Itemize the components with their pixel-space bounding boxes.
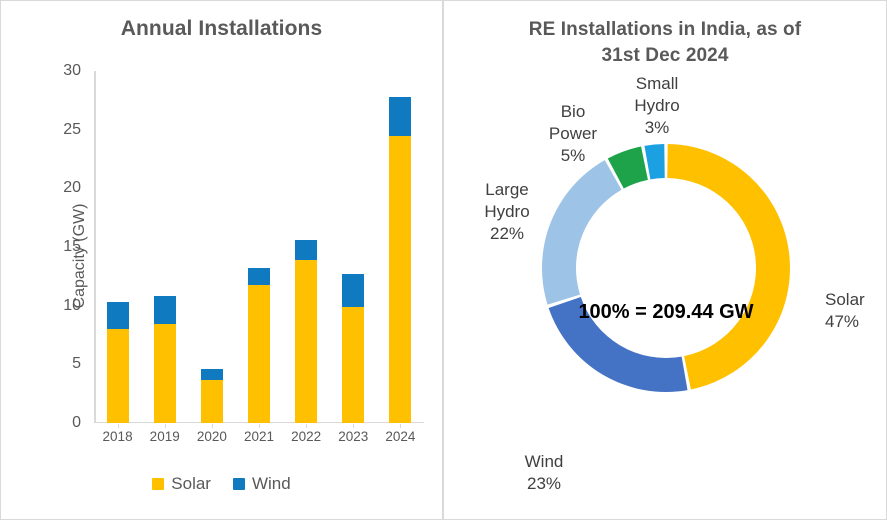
bar-segment-solar-2018[interactable] — [107, 329, 129, 423]
donut-label-small-hydro: Small Hydro 3% — [612, 73, 702, 139]
bar-segment-wind-2022[interactable] — [295, 240, 317, 260]
donut-slice-small-hydro[interactable] — [644, 144, 664, 179]
bar-group-2023[interactable] — [342, 274, 364, 423]
bar-segment-solar-2020[interactable] — [201, 380, 223, 423]
donut-label-wind-name: Wind — [525, 452, 564, 471]
bar-segment-wind-2023[interactable] — [342, 274, 364, 307]
y-axis-tick-30: 30 — [63, 62, 81, 80]
bar-segment-wind-2021[interactable] — [248, 268, 270, 284]
x-axis-tick-label-2021: 2021 — [244, 429, 274, 444]
bar-segment-solar-2024[interactable] — [389, 136, 411, 423]
x-axis-tick-mark-2024 — [400, 424, 401, 428]
bar-group-2022[interactable] — [295, 240, 317, 423]
donut-label-solar: Solar 47% — [825, 289, 865, 333]
donut-label-bio-power-pct: 5% — [528, 145, 618, 167]
donut-label-small-hydro-line1: Small — [636, 74, 679, 93]
bar-group-2019[interactable] — [154, 296, 176, 423]
legend-label-solar: Solar — [171, 474, 211, 494]
wind-legend-swatch — [233, 478, 245, 490]
bar-group-2018[interactable] — [107, 302, 129, 423]
annual-installations-chart-panel: Annual Installations 051015202530 Capaci… — [0, 0, 443, 520]
y-axis-tick-0: 0 — [72, 414, 81, 432]
x-axis-tick-label-2024: 2024 — [385, 429, 415, 444]
bar-chart-title: Annual Installations — [1, 17, 442, 41]
legend-label-wind: Wind — [252, 474, 291, 494]
donut-label-small-hydro-line2: Hydro — [634, 96, 679, 115]
bar-group-2024[interactable] — [389, 97, 411, 423]
bar-group-2020[interactable] — [201, 369, 223, 423]
y-axis-title: Capacity (GW) — [71, 171, 89, 341]
donut-chart-area: 100% = 209.44 GW Solar 47% Wind 23% Larg… — [444, 1, 887, 521]
re-installations-donut-panel: RE Installations in India, as of 31st De… — [443, 0, 887, 520]
bar-segment-wind-2020[interactable] — [201, 369, 223, 380]
donut-label-large-hydro-pct: 22% — [447, 223, 567, 245]
donut-svg — [539, 141, 793, 395]
y-axis-tick-5: 5 — [72, 355, 81, 373]
x-axis-tick-mark-2021 — [259, 424, 260, 428]
donut-label-large-hydro-line1: Large — [485, 180, 528, 199]
solar-legend-swatch — [152, 478, 164, 490]
x-axis-tick-mark-2020 — [212, 424, 213, 428]
x-axis-tick-label-2022: 2022 — [291, 429, 321, 444]
bar-chart-legend: SolarWind — [1, 474, 442, 494]
legend-item-solar[interactable]: Solar — [152, 474, 211, 494]
bars-layer — [94, 71, 424, 423]
donut-label-solar-name: Solar — [825, 290, 865, 309]
x-axis-tick-label-2023: 2023 — [338, 429, 368, 444]
donut-label-bio-power-line2: Power — [549, 124, 597, 143]
x-axis-tick-labels: 2018201920202021202220232024 — [94, 429, 424, 451]
y-axis-tick-25: 25 — [63, 121, 81, 139]
donut-label-bio-power-line1: Bio — [561, 102, 586, 121]
donut-label-solar-pct: 47% — [825, 311, 865, 333]
dashboard-root: Annual Installations 051015202530 Capaci… — [0, 0, 887, 520]
bar-plot-area — [94, 71, 424, 423]
x-axis-tick-mark-2018 — [118, 424, 119, 428]
donut-label-wind: Wind 23% — [489, 451, 599, 495]
bar-segment-wind-2019[interactable] — [154, 296, 176, 324]
x-axis-tick-label-2020: 2020 — [197, 429, 227, 444]
donut-label-large-hydro: Large Hydro 22% — [447, 179, 567, 245]
bar-segment-wind-2018[interactable] — [107, 302, 129, 329]
x-axis-tick-label-2018: 2018 — [103, 429, 133, 444]
x-axis-tick-label-2019: 2019 — [150, 429, 180, 444]
donut-center-total-label: 100% = 209.44 GW — [444, 301, 887, 324]
bar-segment-solar-2022[interactable] — [295, 260, 317, 423]
legend-item-wind[interactable]: Wind — [233, 474, 291, 494]
donut-label-wind-pct: 23% — [489, 473, 599, 495]
x-axis-tick-mark-2019 — [165, 424, 166, 428]
donut-label-bio-power: Bio Power 5% — [528, 101, 618, 167]
donut-label-small-hydro-pct: 3% — [612, 117, 702, 139]
bar-segment-solar-2019[interactable] — [154, 324, 176, 423]
donut-slice-solar[interactable] — [667, 144, 790, 389]
donut-label-large-hydro-line2: Hydro — [484, 202, 529, 221]
bar-group-2021[interactable] — [248, 268, 270, 423]
bar-segment-solar-2021[interactable] — [248, 285, 270, 423]
x-axis-tick-mark-2023 — [353, 424, 354, 428]
bar-segment-solar-2023[interactable] — [342, 307, 364, 423]
x-axis-tick-mark-2022 — [306, 424, 307, 428]
bar-segment-wind-2024[interactable] — [389, 97, 411, 136]
